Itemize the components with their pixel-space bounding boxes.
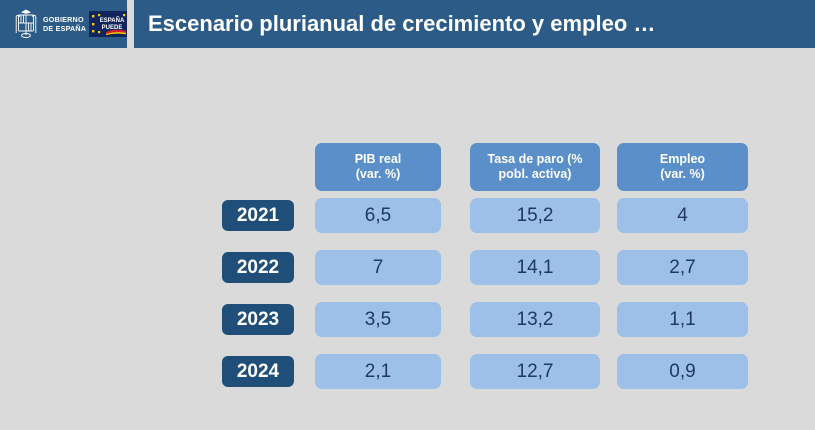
column-header-tasa-de-paro-line1: Tasa de paro (%	[488, 152, 583, 167]
cell-2024-tasa-de-paro: 12,7	[470, 354, 600, 389]
cell-2022-empleo: 2,7	[617, 250, 748, 285]
column-header-empleo: Empleo (var. %)	[617, 143, 748, 191]
cell-2021-empleo: 4	[617, 198, 748, 233]
page-title: Escenario plurianual de crecimiento y em…	[148, 11, 655, 37]
cell-2023-empleo: 1,1	[617, 302, 748, 337]
row-year-label-2021: 2021	[222, 200, 294, 231]
cell-2023-pib-real: 3,5	[315, 302, 441, 337]
column-header-tasa-de-paro: Tasa de paro (% pobl. activa)	[470, 143, 600, 191]
slide-title-panel: Escenario plurianual de crecimiento y em…	[134, 0, 815, 48]
header-bar: GOBIERNO DE ESPAÑA ESPAÑA PUEDE	[0, 0, 815, 48]
spanish-coat-of-arms-icon	[13, 8, 39, 40]
svg-text:ESPAÑA: ESPAÑA	[100, 17, 125, 24]
gobierno-de-espana-wordmark: GOBIERNO DE ESPAÑA	[43, 15, 86, 34]
row-year-label-2024: 2024	[222, 356, 294, 387]
gobierno-line-1: GOBIERNO	[43, 15, 86, 25]
header-divider	[127, 0, 134, 48]
government-logo-panel: GOBIERNO DE ESPAÑA ESPAÑA PUEDE	[0, 0, 127, 48]
column-header-pib-real: PIB real (var. %)	[315, 143, 441, 191]
column-header-pib-real-line1: PIB real	[355, 152, 402, 167]
column-header-empleo-line1: Empleo	[660, 152, 705, 167]
cell-2023-tasa-de-paro: 13,2	[470, 302, 600, 337]
column-header-tasa-de-paro-line2: pobl. activa)	[488, 167, 583, 182]
gobierno-line-2: DE ESPAÑA	[43, 24, 86, 34]
cell-2022-tasa-de-paro: 14,1	[470, 250, 600, 285]
metrics-table: PIB real (var. %) Tasa de paro (% pobl. …	[0, 48, 815, 430]
cell-2021-pib-real: 6,5	[315, 198, 441, 233]
column-header-empleo-line2: (var. %)	[660, 167, 705, 182]
cell-2022-pib-real: 7	[315, 250, 441, 285]
cell-2021-tasa-de-paro: 15,2	[470, 198, 600, 233]
cell-2024-pib-real: 2,1	[315, 354, 441, 389]
row-year-label-2023: 2023	[222, 304, 294, 335]
cell-2024-empleo: 0,9	[617, 354, 748, 389]
column-header-pib-real-line2: (var. %)	[355, 167, 402, 182]
row-year-label-2022: 2022	[222, 252, 294, 283]
